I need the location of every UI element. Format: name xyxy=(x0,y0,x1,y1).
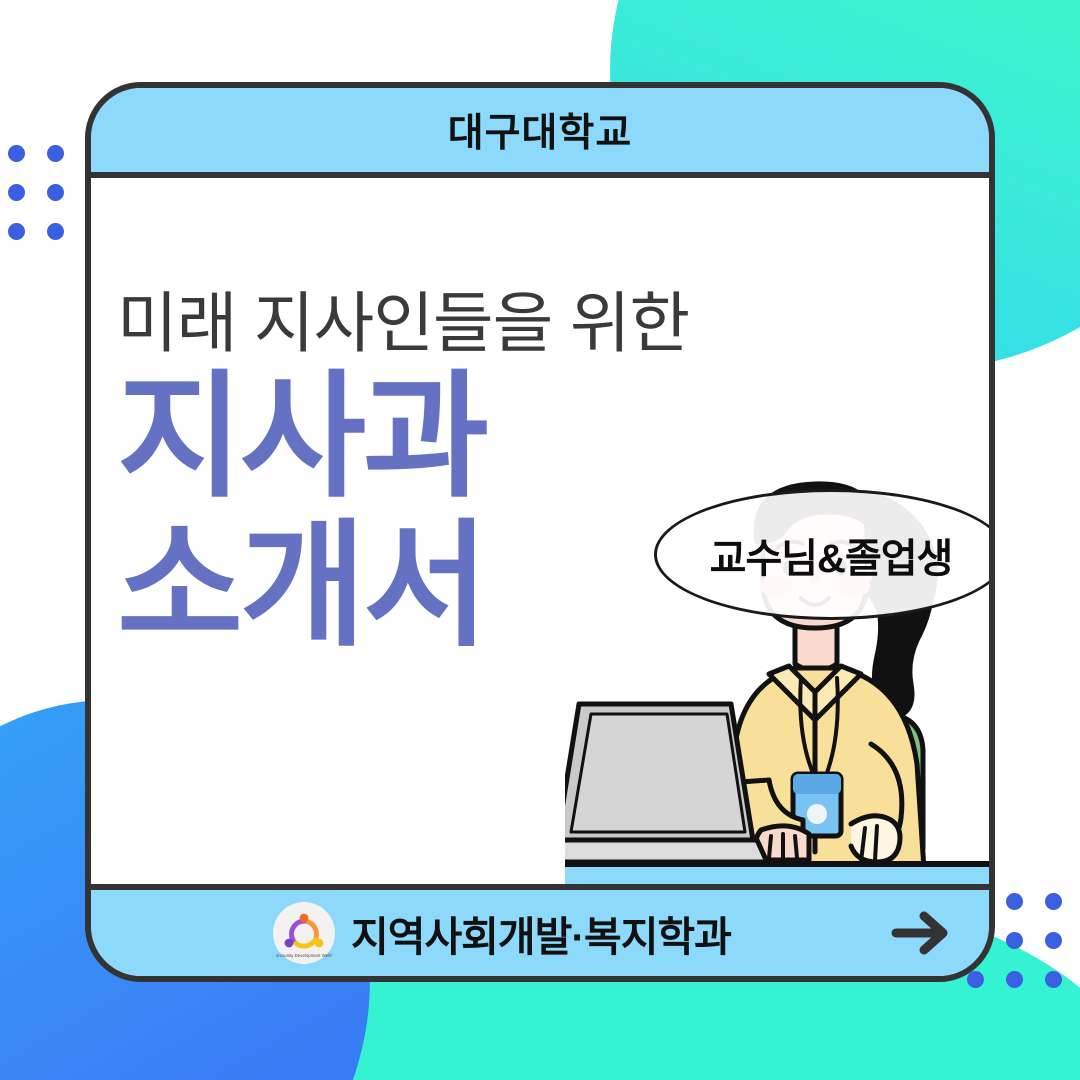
headline-subtitle: 미래 지사인들을 위한 xyxy=(117,290,689,356)
card-header-band: 대구대학교 xyxy=(91,88,989,178)
dot xyxy=(47,223,64,240)
card-footer-band: Community Development Welfare 지역사회개발·복지학… xyxy=(91,884,989,976)
poster-card: 대구대학교 미래 지사인들을 위한 지사과 소개서 교수님&졸업생 xyxy=(85,82,995,982)
dot xyxy=(47,145,64,162)
badge-label: 교수님&졸업생 xyxy=(710,526,953,584)
card-body: 미래 지사인들을 위한 지사과 소개서 교수님&졸업생 xyxy=(91,178,989,884)
status-badge: 교수님&졸업생 xyxy=(654,489,989,620)
dot xyxy=(1045,893,1062,910)
dot xyxy=(8,145,25,162)
dot xyxy=(47,184,64,201)
dot xyxy=(1045,971,1062,988)
poster-canvas: 대구대학교 미래 지사인들을 위한 지사과 소개서 교수님&졸업생 xyxy=(0,0,1080,1080)
dot xyxy=(1006,971,1023,988)
logo-caption: Community Development Welfare xyxy=(276,953,332,958)
department-name: 지역사회개발·복지학과 xyxy=(351,903,731,963)
dot xyxy=(1045,932,1062,949)
department-logo-icon: Community Development Welfare xyxy=(273,902,335,964)
dot xyxy=(1006,932,1023,949)
dot xyxy=(8,223,25,240)
next-arrow-icon[interactable] xyxy=(889,907,955,959)
dot xyxy=(8,184,25,201)
university-name: 대구대학교 xyxy=(448,102,632,158)
dot xyxy=(1006,893,1023,910)
